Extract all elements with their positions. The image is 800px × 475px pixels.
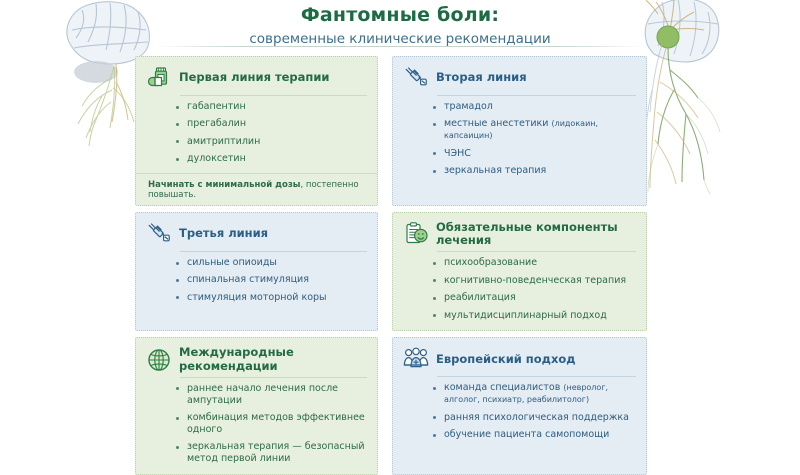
- list-item: сильные опиоиды: [176, 257, 367, 269]
- cards-grid: Первая линия терапии габапентин прегабал…: [135, 56, 647, 475]
- list-item: ранняя психологическая поддержка: [433, 412, 636, 424]
- list-item: психообразование: [433, 257, 636, 269]
- card-title: Вторая линия: [436, 71, 527, 84]
- card-item-list: команда специалистов (невролог, алголог,…: [403, 382, 636, 441]
- card-item-list: сильные опиоиды спинальная стимуляция ст…: [146, 257, 367, 304]
- medical-team-icon: [403, 346, 429, 372]
- card-title-divider: [180, 95, 367, 96]
- list-item: стимуляция моторной коры: [176, 292, 367, 304]
- card-note-bold: Начинать с минимальной дозы: [148, 180, 300, 190]
- syringe-icon: [403, 65, 429, 91]
- card-title-divider: [437, 95, 636, 96]
- infographic-page: Фантомные боли: современные клинические …: [0, 0, 800, 400]
- clipboard-smiley-icon: [403, 221, 429, 247]
- list-item: трамадол: [433, 101, 636, 113]
- card-item-list: трамадол местные анестетики (лидокаин, к…: [403, 101, 636, 177]
- header-divider: [155, 46, 645, 47]
- list-item: дулоксетин: [176, 153, 367, 165]
- card-second-line[interactable]: Вторая линия трамадол местные анестетики…: [392, 56, 647, 206]
- list-item: ЧЭНС: [433, 148, 636, 160]
- list-item: реабилитация: [433, 292, 636, 304]
- list-item: габапентин: [176, 101, 367, 113]
- card-mandatory-components[interactable]: Обязательные компоненты лечения психообр…: [392, 212, 647, 331]
- card-header: Европейский подход: [403, 346, 636, 372]
- card-title-divider: [180, 377, 367, 378]
- card-european-approach[interactable]: Европейский подход команда специалистов …: [392, 337, 647, 475]
- card-header: Международные рекомендации: [146, 346, 367, 372]
- list-item: когнитивно-поведенческая терапия: [433, 275, 636, 287]
- card-title-divider: [180, 251, 367, 252]
- card-title: Первая линия терапии: [179, 71, 329, 84]
- card-first-line-therapy[interactable]: Первая линия терапии габапентин прегабал…: [135, 56, 378, 206]
- page-subtitle: современные клинические рекомендации: [0, 31, 800, 47]
- list-item: спинальная стимуляция: [176, 274, 367, 286]
- list-item: раннее начало лечения после ампутации: [176, 383, 367, 407]
- card-header: Третья линия: [146, 221, 367, 247]
- card-header: Вторая линия: [403, 65, 636, 91]
- card-title-divider: [437, 251, 636, 252]
- card-title: Третья линия: [179, 227, 268, 240]
- list-item: команда специалистов (невролог, алголог,…: [433, 382, 636, 406]
- card-header: Обязательные компоненты лечения: [403, 221, 636, 247]
- card-header: Первая линия терапии: [146, 65, 367, 91]
- list-item: комбинация методов эффективнее одного: [176, 412, 367, 436]
- card-item-list: психообразование когнитивно-поведенческа…: [403, 257, 636, 321]
- list-item: прегабалин: [176, 118, 367, 130]
- card-title-divider: [437, 376, 636, 377]
- list-item: обучение пациента самопомощи: [433, 429, 636, 441]
- card-item-list: раннее начало лечения после ампутации ко…: [146, 383, 367, 465]
- pill-bottle-icon: [146, 65, 172, 91]
- card-title: Европейский подход: [436, 353, 576, 366]
- page-title: Фантомные боли:: [0, 4, 800, 26]
- syringe-icon: [146, 221, 172, 247]
- list-item: мультидисциплинарный подход: [433, 310, 636, 322]
- card-item-list: габапентин прегабалин амитриптилин дулок…: [146, 101, 367, 165]
- list-item: местные анестетики (лидокаин, капсаицин): [433, 118, 636, 142]
- card-note: Начинать с минимальной дозы, постепенно …: [136, 173, 377, 205]
- globe-icon: [146, 347, 172, 373]
- card-international-recommendations[interactable]: Международные рекомендации раннее начало…: [135, 337, 378, 475]
- list-item: зеркальная терапия: [433, 165, 636, 177]
- list-item: зеркальная терапия — безопасный метод пе…: [176, 441, 367, 465]
- header: Фантомные боли: современные клинические …: [0, 4, 800, 47]
- card-title: Международные рекомендации: [179, 346, 367, 372]
- list-item: амитриптилин: [176, 136, 367, 148]
- card-third-line[interactable]: Третья линия сильные опиоиды спинальная …: [135, 212, 378, 331]
- card-title: Обязательные компоненты лечения: [436, 221, 636, 247]
